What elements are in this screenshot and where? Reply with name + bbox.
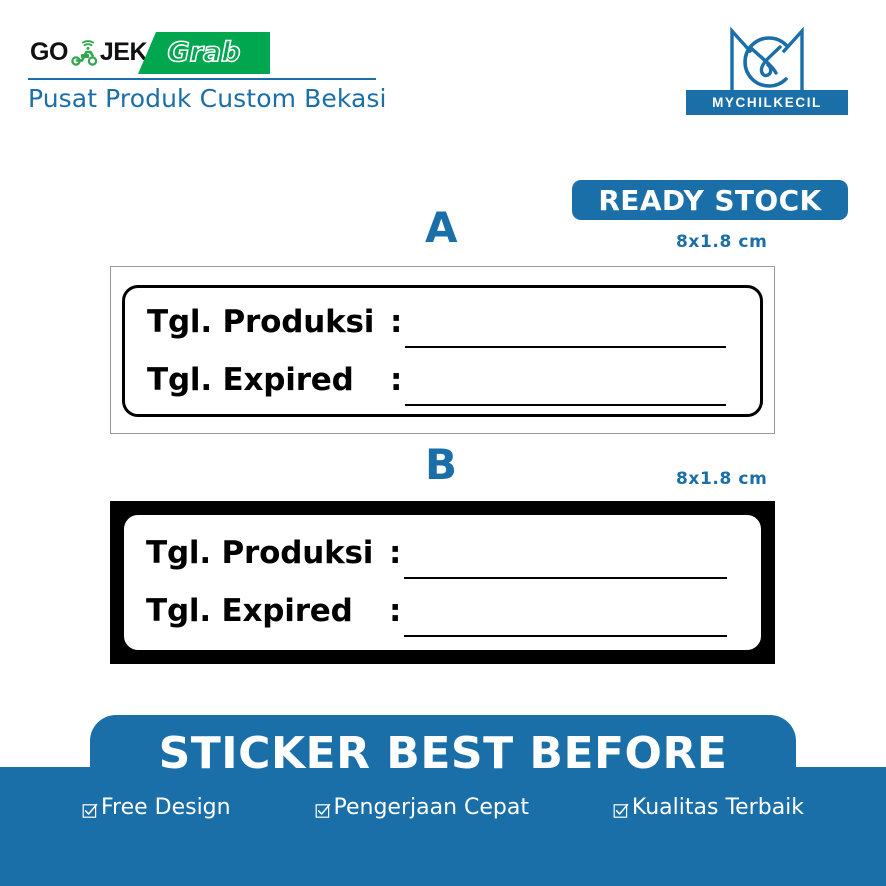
banner-title: STICKER BEST BEFORE: [0, 728, 886, 779]
feature-label: Kualitas Terbaik: [632, 795, 804, 820]
grab-logo-text: Grab: [167, 37, 240, 68]
feature-free-design: Free Design: [82, 795, 231, 820]
banner-feature-list: Free Design Pengerjaan Cepat Kualitas Te…: [0, 795, 886, 820]
grab-logo: Grab: [138, 32, 270, 74]
sticker-a-row-expired: Tgl. Expired :: [147, 362, 744, 420]
brand-name: MYCHILKECIL: [686, 90, 848, 115]
sticker-b-inner-frame: Tgl. Produksi : Tgl. Expired :: [122, 513, 763, 652]
checkbox-checked-icon: [82, 800, 98, 816]
sticker-a-row-produksi: Tgl. Produksi :: [147, 304, 744, 362]
field-label-produksi: Tgl. Produksi: [146, 535, 373, 571]
field-colon-produksi: :: [389, 535, 401, 571]
field-colon-expired: :: [390, 362, 402, 398]
field-label-expired: Tgl. Expired: [146, 593, 353, 629]
header-divider: [28, 78, 376, 80]
courier-logos-row: GO JEK Grab: [28, 32, 388, 76]
feature-label: Pengerjaan Cepat: [334, 795, 530, 820]
checkbox-checked-icon: [315, 800, 331, 816]
ready-stock-badge: READY STOCK: [572, 180, 848, 220]
field-writeline-expired: [404, 635, 727, 637]
sticker-b-fields: Tgl. Produksi : Tgl. Expired :: [124, 515, 761, 650]
field-label-expired: Tgl. Expired: [147, 362, 354, 398]
banner-body: [0, 767, 886, 886]
variant-letter-b: B: [425, 444, 457, 486]
feature-label: Free Design: [101, 795, 231, 820]
bottom-banner: STICKER BEST BEFORE Free Design Pengerja…: [0, 715, 886, 886]
feature-kualitas-terbaik: Kualitas Terbaik: [613, 795, 804, 820]
sticker-b-row-expired: Tgl. Expired :: [146, 593, 745, 651]
field-writeline-produksi: [404, 577, 727, 579]
field-colon-expired: :: [389, 593, 401, 629]
gojek-text-jek: JEK: [100, 38, 147, 67]
field-label-produksi: Tgl. Produksi: [147, 304, 374, 340]
size-label-a: 8x1.8 cm: [676, 232, 767, 252]
gojek-text-go: GO: [30, 38, 68, 67]
header-tagline: Pusat Produk Custom Bekasi: [28, 84, 387, 113]
size-label-b: 8x1.8 cm: [676, 469, 767, 489]
header-courier-block: GO JEK Grab Pusat Produk Custom Bekasi: [28, 32, 388, 76]
field-colon-produksi: :: [390, 304, 402, 340]
gojek-logo: GO JEK: [30, 38, 147, 67]
sticker-preview-a: Tgl. Produksi : Tgl. Expired :: [110, 266, 775, 434]
checkbox-checked-icon: [613, 800, 629, 816]
sticker-a-inner-frame: Tgl. Produksi : Tgl. Expired :: [122, 285, 763, 417]
field-writeline-expired: [405, 404, 726, 406]
scooter-icon: [69, 40, 99, 66]
brand-logo: MYCHILKECIL: [686, 25, 848, 115]
field-writeline-produksi: [405, 346, 726, 348]
sticker-b-row-produksi: Tgl. Produksi :: [146, 535, 745, 593]
sticker-preview-b: Tgl. Produksi : Tgl. Expired :: [110, 501, 775, 664]
cat-face-logo-icon: [724, 25, 810, 91]
variant-letter-a: A: [425, 207, 458, 249]
sticker-a-fields: Tgl. Produksi : Tgl. Expired :: [125, 288, 760, 414]
feature-pengerjaan-cepat: Pengerjaan Cepat: [315, 795, 530, 820]
